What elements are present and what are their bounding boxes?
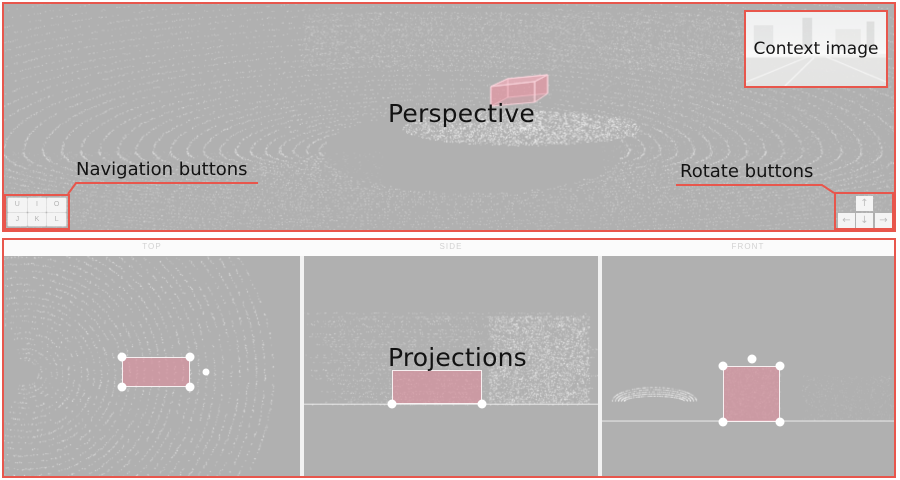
- nav-key-u[interactable]: U: [8, 198, 27, 212]
- projection-header-front: FRONT: [602, 242, 894, 251]
- top-handle-nw[interactable]: [118, 353, 127, 362]
- front-handle-sw[interactable]: [719, 418, 728, 427]
- nav-key-i[interactable]: I: [28, 198, 47, 212]
- projection-divider-2: [598, 256, 602, 476]
- rotate-down-button[interactable]: ↓: [856, 213, 873, 228]
- context-image-label: Context image: [746, 39, 886, 59]
- side-bounding-box[interactable]: [392, 370, 482, 404]
- front-handle-se[interactable]: [776, 418, 785, 427]
- front-handle-top-center[interactable]: [748, 355, 757, 364]
- projection-view-top[interactable]: [4, 256, 300, 476]
- front-handle-ne[interactable]: [776, 362, 785, 371]
- rotate-left-button[interactable]: ←: [838, 213, 855, 228]
- perspective-view-label: Perspective: [388, 99, 535, 128]
- navigation-buttons-group[interactable]: U I O J K L: [4, 194, 70, 230]
- nav-key-l[interactable]: L: [47, 213, 66, 227]
- rotate-right-button[interactable]: →: [875, 213, 892, 228]
- nav-key-j[interactable]: J: [8, 213, 27, 227]
- side-handle-sw[interactable]: [388, 400, 397, 409]
- top-handle-heading[interactable]: [203, 369, 210, 376]
- top-handle-se[interactable]: [186, 383, 195, 392]
- nav-key-o[interactable]: O: [47, 198, 66, 212]
- projections-view-label: Projections: [388, 343, 527, 372]
- projection-divider-1: [300, 256, 304, 476]
- callout-navigation-label: Navigation buttons: [76, 161, 248, 179]
- front-bounding-box[interactable]: [723, 366, 780, 422]
- projections-header-bar: TOP SIDE FRONT: [4, 240, 894, 256]
- context-image-panel[interactable]: Context image: [744, 10, 888, 88]
- projection-header-top: TOP: [4, 242, 300, 251]
- top-bounding-box[interactable]: [122, 357, 190, 387]
- top-handle-ne[interactable]: [186, 353, 195, 362]
- nav-key-k[interactable]: K: [28, 213, 47, 227]
- top-handle-sw[interactable]: [118, 383, 127, 392]
- projection-view-front[interactable]: [602, 256, 894, 476]
- rotate-up-button[interactable]: ↑: [856, 196, 873, 211]
- callout-rotate-label: Rotate buttons: [680, 163, 813, 181]
- annotation-tool-root: Context image Perspective Navigation but…: [0, 0, 900, 480]
- projection-header-side: SIDE: [304, 242, 598, 251]
- rotate-buttons-group[interactable]: ↑ ← ↓ →: [834, 192, 894, 230]
- side-handle-se[interactable]: [478, 400, 487, 409]
- front-handle-nw[interactable]: [719, 362, 728, 371]
